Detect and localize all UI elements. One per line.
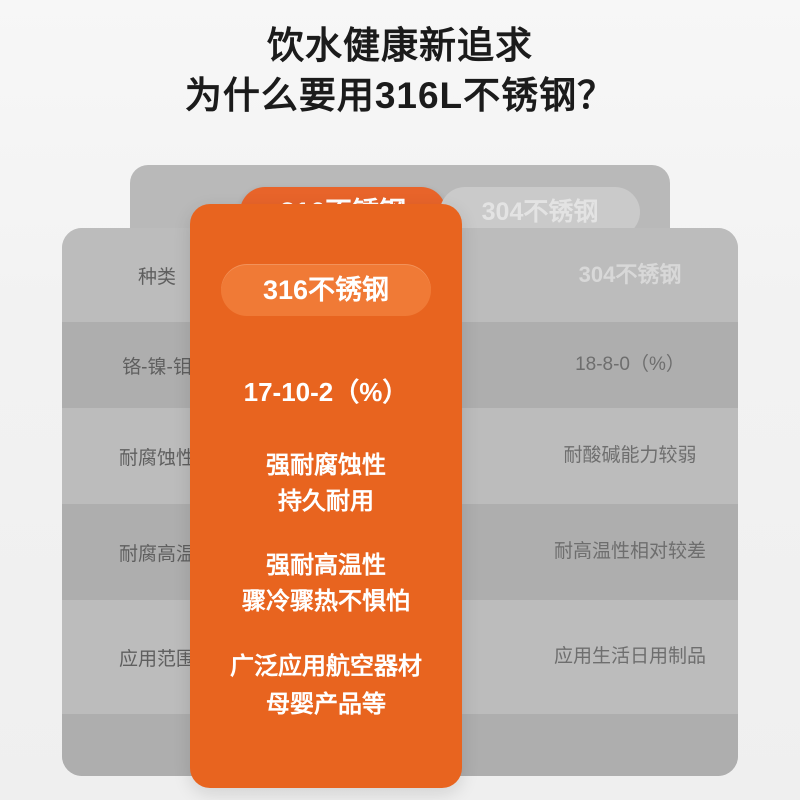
highlight-heat: 强耐高温性 骤冷骤热不惧怕 <box>190 548 462 620</box>
poster-page: 饮水健康新追求 为什么要用316L不锈钢？ 316不锈钢 304不锈钢 种类 3… <box>0 0 800 800</box>
row-compare-composition: 18-8-0（%） <box>522 350 738 380</box>
page-title: 饮水健康新追求 为什么要用316L不锈钢？ <box>0 22 800 122</box>
highlight-application-line-1: 广泛应用航空器材 <box>190 648 462 686</box>
highlight-column-pill: 316不锈钢 <box>221 264 431 316</box>
table-header-compare: 304不锈钢 <box>522 260 738 290</box>
row-compare-application: 应用生活日用制品 <box>522 642 738 672</box>
highlight-column: 316不锈钢 17-10-2（%） 强耐腐蚀性 持久耐用 强耐高温性 骤冷骤热不… <box>190 204 462 788</box>
highlight-column-pill-label: 316不锈钢 <box>221 264 431 316</box>
highlight-corrosion-line-2: 持久耐用 <box>190 484 462 520</box>
highlight-corrosion-line-1: 强耐腐蚀性 <box>190 448 462 484</box>
row-compare-heat: 耐高温性相对较差 <box>522 537 738 567</box>
headline-line-2: 为什么要用316L不锈钢？ <box>0 70 800 122</box>
highlight-application: 广泛应用航空器材 母婴产品等 <box>190 648 462 724</box>
highlight-composition: 17-10-2（%） <box>190 372 462 409</box>
row-compare-corrosion: 耐酸碱能力较弱 <box>522 441 738 471</box>
headline-line-1: 饮水健康新追求 <box>0 22 800 70</box>
highlight-application-line-2: 母婴产品等 <box>190 686 462 724</box>
highlight-corrosion: 强耐腐蚀性 持久耐用 <box>190 448 462 520</box>
highlight-heat-line-1: 强耐高温性 <box>190 548 462 584</box>
highlight-heat-line-2: 骤冷骤热不惧怕 <box>190 584 462 620</box>
